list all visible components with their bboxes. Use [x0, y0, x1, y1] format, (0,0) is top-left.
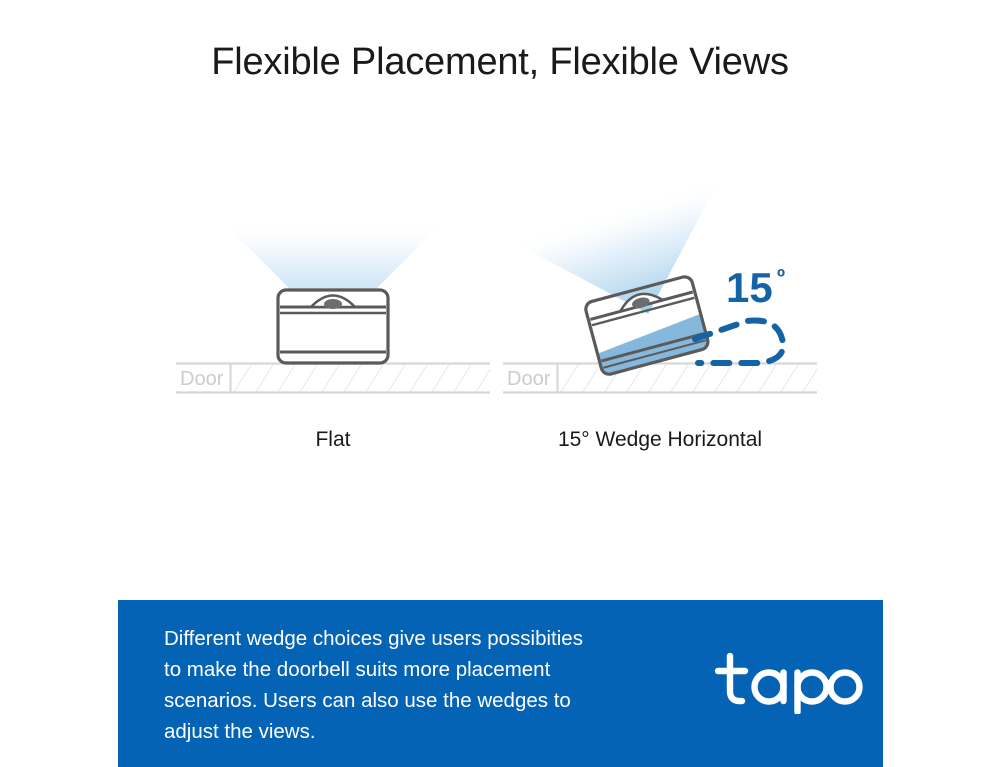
footer-banner: Different wedge choices give users possi… — [118, 600, 883, 767]
footer-line-1: Different wedge choices give users possi… — [164, 623, 684, 654]
ground-strip: Door — [503, 363, 817, 393]
page-title: Flexible Placement, Flexible Views — [0, 42, 1000, 84]
footer-line-2: to make the doorbell suits more placemen… — [164, 654, 684, 685]
caption-wedge-15: 15° Wedge Horizontal — [495, 428, 825, 452]
doorbell-device — [278, 290, 388, 363]
diagram-wedge-15: Door — [495, 180, 825, 500]
footer-line-3: scenarios. Users can also use the wedges… — [164, 685, 684, 716]
caption-flat: Flat — [168, 428, 498, 452]
diagram-container: Door Flat — [0, 180, 1000, 500]
tapo-wordmark-icon — [714, 652, 864, 714]
tapo-logo — [714, 652, 864, 714]
ground-strip: Door — [176, 363, 490, 393]
footer-description: Different wedge choices give users possi… — [164, 623, 684, 747]
wedge-illustration: Door — [495, 180, 825, 430]
diagram-flat: Door Flat — [168, 180, 498, 500]
door-label: Door — [180, 368, 224, 390]
angle-value: 15 — [726, 264, 773, 311]
page-root: Flexible Placement, Flexible Views — [0, 0, 1000, 767]
flat-illustration: Door — [168, 180, 498, 430]
field-of-view-cone — [511, 180, 754, 346]
door-label: Door — [507, 368, 551, 390]
degree-symbol-icon: º — [777, 264, 785, 289]
footer-line-4: adjust the views. — [164, 716, 684, 747]
